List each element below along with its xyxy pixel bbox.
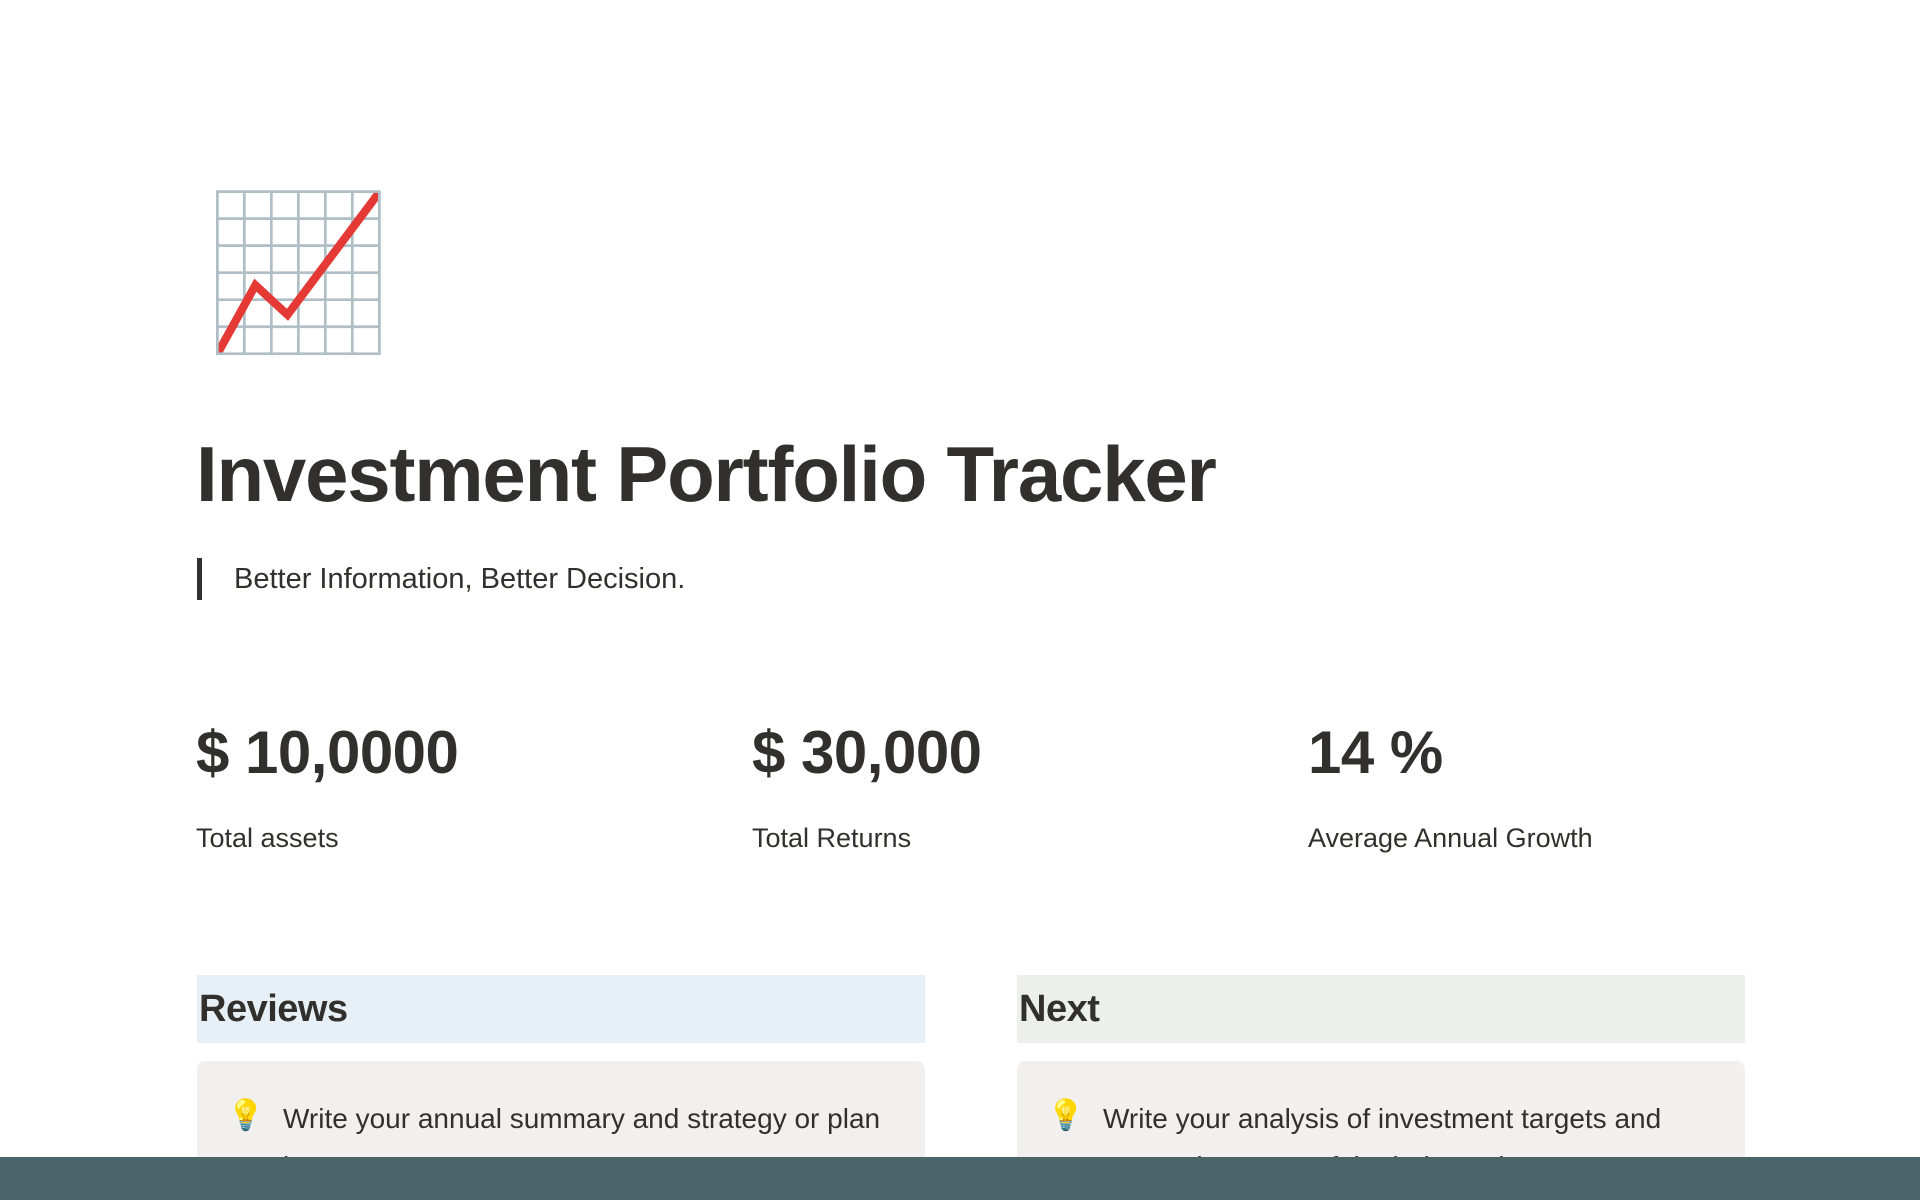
metric-value[interactable]: $ 30,000 — [752, 718, 1308, 788]
metric-label[interactable]: Average Annual Growth — [1308, 820, 1756, 856]
section-header-label: Next — [1019, 987, 1099, 1031]
metric-label[interactable]: Total assets — [196, 820, 752, 856]
subtitle-quote-block[interactable]: Better Information, Better Decision. — [197, 558, 685, 600]
document-page: 📈 Investment Portfolio Tracker Better In… — [0, 0, 1920, 1200]
section-header-label: Reviews — [199, 987, 348, 1031]
metric-total-returns: $ 30,000 Total Returns — [752, 718, 1308, 856]
metric-total-assets: $ 10,0000 Total assets — [196, 718, 752, 856]
metric-label[interactable]: Total Returns — [752, 820, 1308, 856]
subtitle-text[interactable]: Better Information, Better Decision. — [202, 558, 685, 600]
metric-average-annual-growth: 14 % Average Annual Growth — [1308, 718, 1756, 856]
section-header-reviews[interactable]: Reviews — [197, 975, 925, 1043]
page-title[interactable]: Investment Portfolio Tracker — [196, 432, 1216, 516]
lightbulb-icon: 💡 — [227, 1095, 271, 1137]
lightbulb-icon: 💡 — [1047, 1095, 1091, 1137]
metric-value[interactable]: 14 % — [1308, 718, 1756, 788]
bottom-status-bar — [0, 1157, 1920, 1200]
section-header-next[interactable]: Next — [1017, 975, 1745, 1043]
chart-increasing-emoji[interactable]: 📈 — [205, 186, 345, 361]
metric-value[interactable]: $ 10,0000 — [196, 718, 752, 788]
metrics-row: $ 10,0000 Total assets $ 30,000 Total Re… — [196, 718, 1756, 856]
